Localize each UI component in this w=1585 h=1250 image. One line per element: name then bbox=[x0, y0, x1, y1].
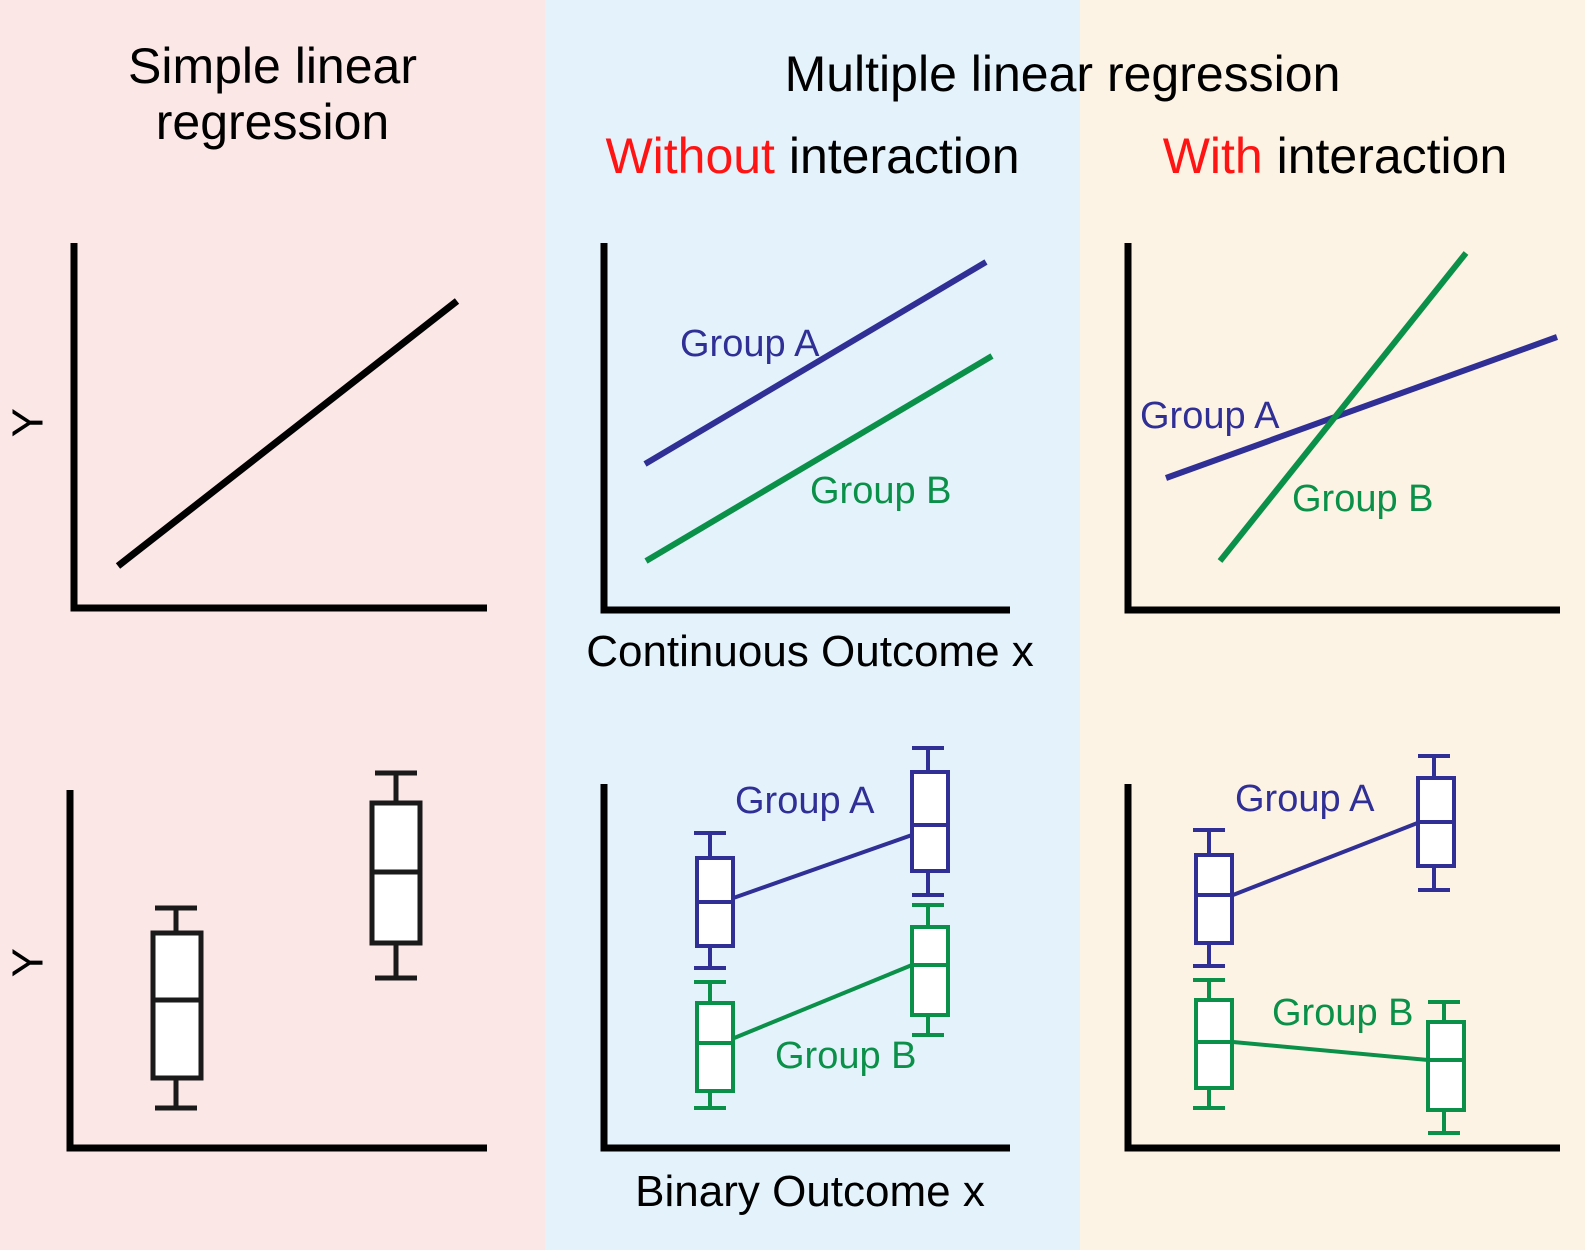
axis-lines-simple-binary bbox=[70, 790, 487, 1148]
chart-with-interaction-binary bbox=[1128, 756, 1560, 1148]
chart-with-interaction-continuous bbox=[1128, 243, 1560, 610]
regression-line-group-a-without bbox=[645, 262, 986, 464]
boxplot-group-b-x1-with bbox=[1428, 1002, 1464, 1133]
connector-line-group-a-without bbox=[722, 835, 912, 902]
box-iqr bbox=[1196, 855, 1232, 943]
axis-lines-with-continuous bbox=[1128, 243, 1560, 610]
axis-lines-without-continuous bbox=[604, 243, 1010, 610]
boxplot-group-b-x1-without bbox=[912, 905, 948, 1035]
regression-line-group-b-without bbox=[646, 356, 992, 561]
box-iqr bbox=[153, 933, 201, 1078]
chart-simple-continuous bbox=[74, 243, 487, 608]
boxplot-group-a-x0-without bbox=[694, 833, 733, 968]
boxplot-group-a-x1-with bbox=[1418, 756, 1454, 890]
chart-without-interaction-binary bbox=[604, 748, 1010, 1148]
connector-line-group-b-without bbox=[722, 965, 912, 1043]
axis-lines-with-binary bbox=[1128, 784, 1560, 1148]
boxplot-group-b-x0-without bbox=[694, 982, 733, 1108]
boxplot-simple-right bbox=[372, 773, 420, 978]
chart-simple-binary bbox=[70, 773, 487, 1148]
regression-line-group-b-with bbox=[1220, 253, 1466, 561]
box-iqr bbox=[697, 1003, 733, 1091]
connector-line-group-b-with bbox=[1233, 1042, 1428, 1060]
box-iqr bbox=[912, 772, 948, 871]
regression-line-group-a-with bbox=[1166, 337, 1557, 478]
boxplot-simple-left bbox=[153, 908, 201, 1108]
chart-without-interaction-continuous bbox=[604, 243, 1010, 610]
box-iqr bbox=[912, 927, 948, 1015]
regression-line-simple bbox=[118, 301, 457, 566]
boxplot-group-a-x1-without bbox=[912, 748, 948, 895]
boxplot-group-a-x0-with bbox=[1193, 830, 1232, 966]
box-iqr bbox=[1428, 1022, 1464, 1110]
boxplot-group-b-x0-with bbox=[1193, 980, 1232, 1108]
regression-illustration-figure: Simple linear regression Multiple linear… bbox=[0, 0, 1585, 1250]
figure-vector-layer bbox=[0, 0, 1585, 1250]
connector-line-group-a-with bbox=[1233, 822, 1420, 895]
